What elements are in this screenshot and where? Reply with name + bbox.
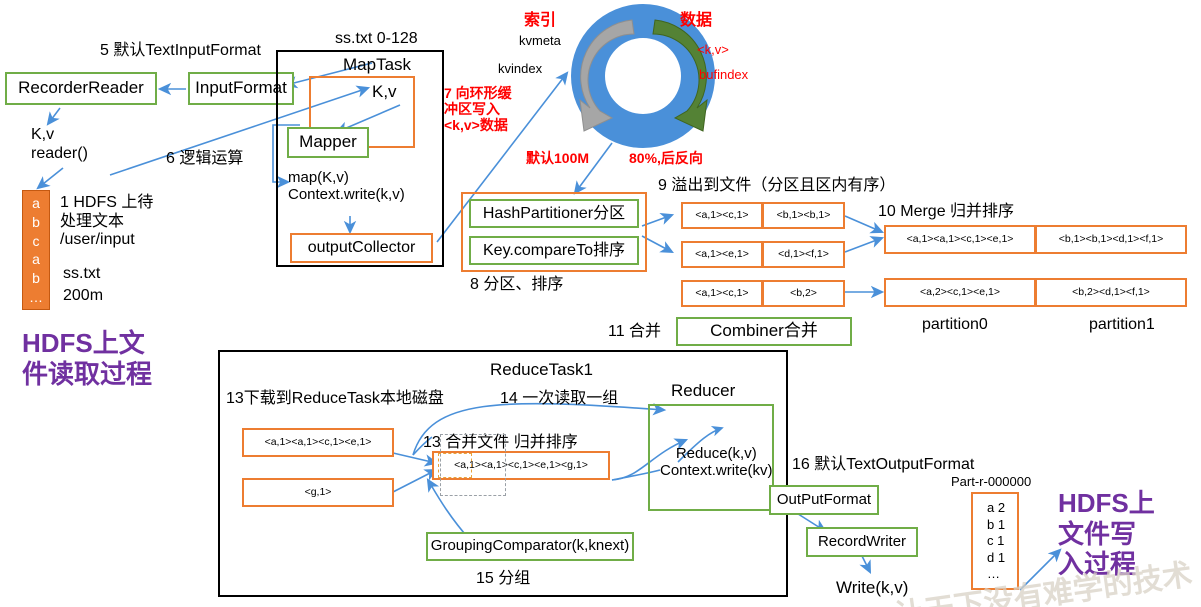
step16-label: 16 默认TextOutputFormat: [792, 456, 974, 475]
merge-cell-text: <b,2><d,1><f,1>: [1072, 287, 1150, 299]
maptask-kv-label: K,v: [372, 82, 397, 102]
spill-row: <a,1><e,1> <d,1><f,1>: [681, 241, 845, 268]
watermark: 让天下没有难学的技术: [891, 549, 1194, 607]
hdfs-file-name: ss.txt: [63, 265, 100, 284]
spill-row: <a,1><c,1> <b,2>: [681, 280, 845, 307]
spill-cell-p1: <d,1><f,1>: [762, 241, 845, 268]
reducetask-title: ReduceTask1: [490, 360, 593, 380]
maptask-title: MapTask: [343, 55, 411, 75]
group-key-highlight: [438, 453, 472, 478]
spill-cell-text: <b,2>: [790, 288, 817, 300]
spill-row: <a,1><c,1> <b,1><b,1>: [681, 202, 845, 229]
key-compare-label: Key.compareTo排序: [483, 242, 625, 260]
merge-cell-p1: <b,2><d,1><f,1>: [1035, 278, 1187, 307]
step15-label: 15 分组: [476, 570, 530, 589]
step14-label: 14 一次读取一组: [500, 390, 618, 409]
step9-label: 9 溢出到文件（分区且区内有序）: [658, 177, 895, 196]
reduce-input-file-text: <a,1><a,1><c,1><e,1>: [265, 437, 372, 449]
step7-label: 7 向环形缓 冲区写入 <k,v>数据: [444, 85, 512, 134]
bufindex-label: bufindex: [699, 67, 748, 82]
spill-cell-text: <a,1><c,1>: [695, 210, 748, 222]
hdfs-input-block: a b c a b …: [22, 190, 50, 310]
spill-cell-p0: <a,1><c,1>: [681, 202, 763, 229]
spill-cell-p0: <a,1><c,1>: [681, 280, 763, 307]
input-format-label: InputFormat: [195, 79, 287, 98]
recorder-reader-box[interactable]: RecorderReader: [5, 72, 157, 105]
hdfs-file-size: 200m: [63, 287, 103, 306]
spill-cell-text: <a,1><e,1>: [695, 249, 749, 261]
grouping-comparator-label: GroupingComparator(k,knext): [431, 538, 629, 555]
reduce-input-file-1: <a,1><a,1><c,1><e,1>: [242, 428, 394, 457]
data-title: 数据: [680, 12, 712, 31]
read-phase-title: HDFS上文 件读取过程: [22, 328, 152, 389]
file-char: a: [32, 196, 40, 210]
buffer-threshold-label: 80%,后反向: [629, 150, 703, 166]
merge-row: <a,2><c,1><e,1> <b,2><d,1><f,1>: [884, 278, 1186, 307]
file-char: b: [32, 271, 40, 285]
buffer-size-label: 默认100M: [526, 150, 589, 166]
merge-cell-p1: <b,1><b,1><d,1><f,1>: [1035, 225, 1187, 254]
step11-label: 11 合并: [608, 323, 661, 342]
reduce-calls-label: Reduce(k,v) Context.write(kv): [660, 445, 773, 480]
reduce-input-file-text: <g,1>: [305, 487, 332, 499]
spill-cell-text: <a,1><c,1>: [695, 288, 748, 300]
part-line: b 1: [987, 518, 1005, 532]
record-writer-box[interactable]: RecordWriter: [806, 527, 918, 557]
spill-cell-p1: <b,2>: [762, 280, 845, 307]
step8-label: 8 分区、排序: [470, 276, 563, 295]
hdfs-note: 1 HDFS 上待 处理文本 /user/input: [60, 194, 153, 250]
partition0-label: partition0: [922, 316, 988, 335]
hash-partitioner-label: HashPartitioner分区: [483, 205, 625, 223]
merge-cell-p0: <a,2><c,1><e,1>: [884, 278, 1036, 307]
record-writer-label: RecordWriter: [818, 534, 906, 551]
recorder-reader-label: RecorderReader: [18, 79, 144, 98]
spill-cell-p0: <a,1><e,1>: [681, 241, 763, 268]
merge-row: <a,1><a,1><c,1><e,1> <b,1><b,1><d,1><f,1…: [884, 225, 1186, 254]
combiner-box[interactable]: Combiner合并: [676, 317, 852, 346]
hash-partitioner-box[interactable]: HashPartitioner分区: [469, 199, 639, 228]
part-file-name: Part-r-000000: [951, 474, 1031, 489]
reduce-input-file-2: <g,1>: [242, 478, 394, 507]
partition1-label: partition1: [1089, 316, 1155, 335]
reducer-title: Reducer: [671, 381, 735, 401]
spill-cell-p1: <b,1><b,1>: [762, 202, 845, 229]
kvindex-label: kvindex: [498, 61, 542, 76]
combiner-label: Combiner合并: [710, 322, 818, 341]
step6-label: 6 逻辑运算: [166, 150, 243, 169]
kvmeta-label: kvmeta: [519, 33, 561, 48]
step5-label: 5 默认TextInputFormat: [100, 42, 261, 61]
step13-download-label: 13下载到ReduceTask本地磁盘: [226, 390, 444, 409]
merge-cell-text: <b,1><b,1><d,1><f,1>: [1059, 234, 1164, 246]
file-char: …: [29, 290, 43, 304]
mapper-label: Mapper: [299, 133, 357, 152]
spill-cell-text: <b,1><b,1>: [777, 210, 831, 222]
output-format-label: OutPutFormat: [777, 492, 871, 509]
output-format-box[interactable]: OutPutFormat: [769, 485, 879, 515]
output-collector-box[interactable]: outputCollector: [290, 233, 433, 263]
key-compare-box[interactable]: Key.compareTo排序: [469, 236, 639, 265]
merge-cell-text: <a,1><a,1><c,1><e,1>: [907, 234, 1014, 246]
file-char: b: [32, 215, 40, 229]
part-line: d 1: [987, 551, 1005, 565]
spill-cell-text: <d,1><f,1>: [778, 249, 829, 261]
map-calls-label: map(K,v) Context.write(k,v): [288, 169, 405, 204]
grouping-comparator-box[interactable]: GroupingComparator(k,knext): [426, 532, 634, 561]
mapper-box[interactable]: Mapper: [287, 127, 369, 158]
file-char: c: [33, 234, 40, 248]
kv-reader-label: K,v reader(): [31, 126, 88, 163]
mapreduce-diagram: 5 默认TextInputFormat RecorderReader Input…: [0, 0, 1201, 607]
kv-pair-label: <k,v>: [697, 42, 729, 57]
step10-label: 10 Merge 归并排序: [878, 203, 1014, 222]
index-title: 索引: [524, 12, 556, 31]
file-char: a: [32, 252, 40, 266]
merge-cell-text: <a,2><c,1><e,1>: [920, 287, 1000, 299]
part-line: c 1: [987, 534, 1004, 548]
split-label: ss.txt 0-128: [335, 30, 418, 49]
merge-cell-p0: <a,1><a,1><c,1><e,1>: [884, 225, 1036, 254]
part-line: a 2: [987, 501, 1005, 515]
output-collector-label: outputCollector: [308, 239, 416, 257]
